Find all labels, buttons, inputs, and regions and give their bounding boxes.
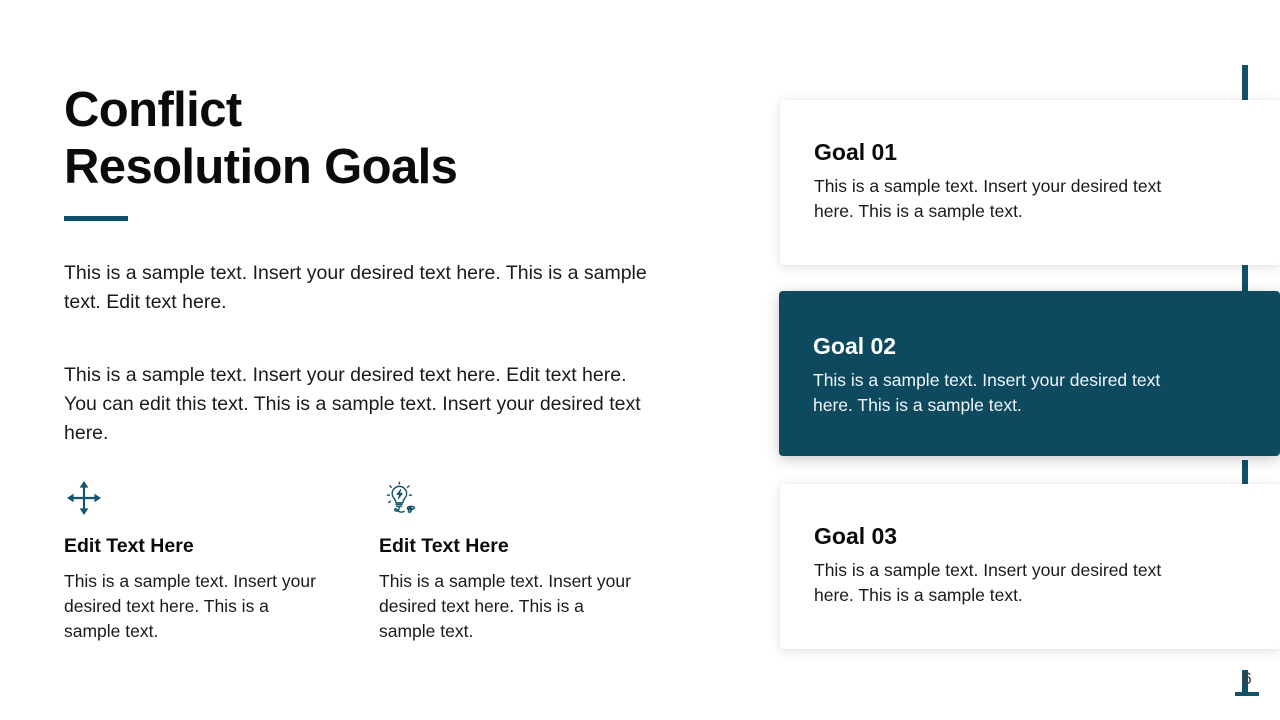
page-number-underline xyxy=(1235,692,1259,696)
feature-row: Edit Text Here This is a sample text. In… xyxy=(64,478,684,644)
rail-segment-1 xyxy=(1242,65,1248,101)
feature-text-2: This is a sample text. Insert your desir… xyxy=(379,569,632,644)
feature-item-2: Edit Text Here This is a sample text. In… xyxy=(379,478,632,644)
goal-card-01-text: This is a sample text. Insert your desir… xyxy=(814,174,1194,224)
feature-text-1: This is a sample text. Insert your desir… xyxy=(64,569,317,644)
title-accent-bar xyxy=(64,216,128,221)
page-number-block: 6 xyxy=(1232,670,1262,696)
goal-card-03[interactable]: Goal 03 This is a sample text. Insert yo… xyxy=(780,484,1280,649)
goal-card-01-title: Goal 01 xyxy=(814,140,1280,165)
page-title: Conflict Resolution Goals xyxy=(64,82,664,197)
feature-heading-2: Edit Text Here xyxy=(379,535,632,558)
left-content-column: Conflict Resolution Goals This is a samp… xyxy=(64,82,664,448)
move-arrows-icon xyxy=(64,478,104,518)
goal-card-03-text: This is a sample text. Insert your desir… xyxy=(814,558,1194,608)
goal-card-01[interactable]: Goal 01 This is a sample text. Insert yo… xyxy=(780,100,1280,265)
goal-card-02-title: Goal 02 xyxy=(813,334,1280,359)
page-number: 6 xyxy=(1232,670,1262,687)
slide-canvas: Conflict Resolution Goals This is a samp… xyxy=(0,0,1280,720)
goal-card-02[interactable]: Goal 02 This is a sample text. Insert yo… xyxy=(779,291,1280,456)
goal-card-03-title: Goal 03 xyxy=(814,524,1280,549)
eco-lightbulb-icon xyxy=(379,478,419,518)
goal-card-02-text: This is a sample text. Insert your desir… xyxy=(813,368,1193,418)
feature-heading-1: Edit Text Here xyxy=(64,535,317,558)
feature-item-1: Edit Text Here This is a sample text. In… xyxy=(64,478,317,644)
intro-paragraph-1: This is a sample text. Insert your desir… xyxy=(64,259,649,317)
intro-paragraph-2: This is a sample text. Insert your desir… xyxy=(64,361,649,448)
